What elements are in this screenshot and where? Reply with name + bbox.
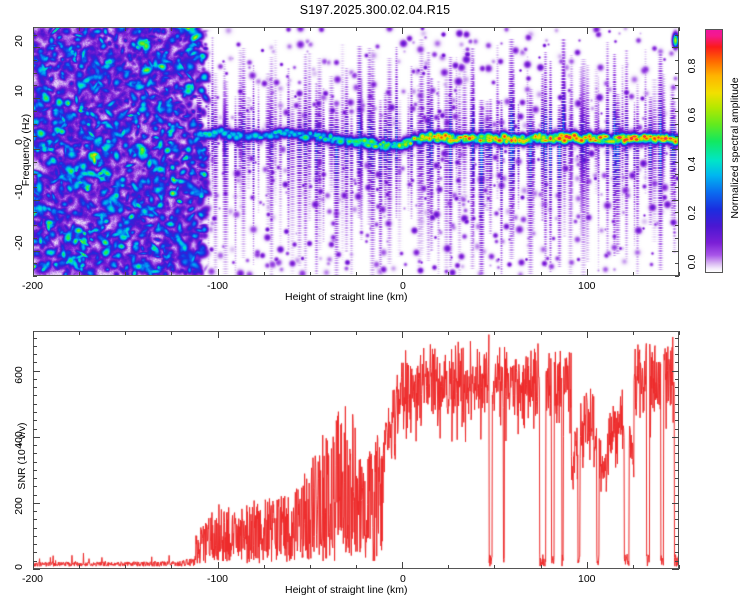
tick-mark (79, 331, 80, 335)
tick-mark (218, 27, 219, 34)
tick-mark (675, 387, 679, 388)
tick-mark (675, 429, 679, 430)
tick-mark (218, 562, 219, 569)
tick-mark (448, 565, 449, 569)
tick-mark (33, 60, 37, 61)
tick-mark (633, 565, 634, 569)
tick-mark (675, 60, 679, 61)
tick-mark (675, 225, 679, 226)
tick-mark (675, 85, 679, 86)
tick-mark (541, 27, 542, 31)
tick-mark (672, 371, 679, 372)
tick-mark (79, 565, 80, 569)
tick-mark (402, 269, 403, 276)
tick-mark (675, 346, 679, 347)
colorbar-tick-0.2: 0.2 (686, 200, 698, 226)
tick-mark (33, 404, 37, 405)
tick-mark (33, 187, 37, 188)
snr-xtick-m100: -100 (207, 573, 228, 585)
tick-mark (675, 511, 679, 512)
tick-mark (675, 552, 679, 553)
tick-mark (494, 272, 495, 276)
tick-mark (587, 562, 588, 569)
tick-mark (356, 331, 357, 335)
tick-mark (33, 212, 37, 213)
tick-mark (675, 462, 679, 463)
figure-root: S197.2025.300.02.04.R15 20 10 0 -10 -20 … (0, 0, 750, 600)
tick-mark (33, 552, 37, 553)
tick-mark (171, 27, 172, 31)
tick-mark (125, 27, 126, 31)
tick-mark (264, 27, 265, 31)
tick-mark (310, 27, 311, 31)
tick-mark (679, 565, 680, 569)
tick-mark (672, 503, 679, 504)
tick-mark (33, 379, 37, 380)
tick-mark (402, 331, 403, 338)
tick-mark (675, 35, 679, 36)
snr-xtick-m200: -200 (22, 573, 43, 585)
tick-mark (218, 331, 219, 338)
tick-mark (33, 395, 37, 396)
tick-mark (33, 73, 37, 74)
snr-y-axis-label: SNR (10 * v/v) (16, 396, 28, 516)
tick-mark (125, 331, 126, 335)
tick-mark (33, 544, 37, 545)
tick-mark (310, 272, 311, 276)
tick-mark (675, 561, 679, 562)
tick-mark (675, 162, 679, 163)
tick-mark (675, 263, 679, 264)
tick-mark (675, 453, 679, 454)
tick-mark (33, 35, 37, 36)
tick-mark (402, 562, 403, 569)
spectrogram-image (34, 28, 678, 275)
tick-mark (125, 565, 126, 569)
tick-mark (33, 511, 37, 512)
tick-mark (33, 486, 37, 487)
tick-mark (541, 272, 542, 276)
colorbar-tick-0.6: 0.6 (686, 102, 698, 128)
tick-mark (33, 528, 37, 529)
tick-mark (672, 47, 679, 48)
tick-mark (675, 536, 679, 537)
colorbar-tick-0.8: 0.8 (686, 53, 698, 79)
tick-mark (675, 238, 679, 239)
tick-mark (33, 503, 40, 504)
tick-mark (675, 470, 679, 471)
tick-mark (33, 495, 37, 496)
tick-mark (672, 200, 679, 201)
tick-mark (264, 272, 265, 276)
tick-mark (33, 331, 34, 338)
tick-mark (33, 276, 37, 277)
tick-mark (33, 47, 40, 48)
tick-mark (33, 445, 37, 446)
tick-mark (33, 238, 37, 239)
tick-mark (541, 331, 542, 335)
spec-xtick-100: 100 (578, 280, 596, 292)
tick-mark (672, 569, 679, 570)
tick-mark (33, 111, 37, 112)
snr-ytick-600: 600 (13, 358, 25, 392)
tick-mark (675, 420, 679, 421)
tick-mark (33, 200, 40, 201)
tick-mark (675, 519, 679, 520)
tick-mark (310, 565, 311, 569)
spec-ytick-20: 20 (13, 29, 25, 53)
tick-mark (33, 162, 37, 163)
tick-mark (310, 331, 311, 335)
tick-mark (675, 362, 679, 363)
tick-mark (494, 27, 495, 31)
tick-mark (675, 174, 679, 175)
snr-xtick-100: 100 (578, 573, 596, 585)
tick-mark (675, 495, 679, 496)
tick-mark (672, 149, 679, 150)
tick-mark (33, 338, 37, 339)
tick-mark (33, 346, 37, 347)
snr-line-plot (34, 332, 678, 568)
tick-mark (171, 565, 172, 569)
tick-mark (218, 269, 219, 276)
tick-mark (675, 354, 679, 355)
tick-mark (675, 478, 679, 479)
tick-mark (33, 453, 37, 454)
tick-mark (675, 379, 679, 380)
tick-mark (33, 149, 40, 150)
tick-mark (33, 174, 37, 175)
tick-mark (356, 27, 357, 31)
tick-mark (79, 27, 80, 31)
tick-mark (675, 528, 679, 529)
spec-ytick-m20: -20 (13, 229, 25, 257)
tick-mark (33, 136, 37, 137)
tick-mark (675, 338, 679, 339)
spectrogram-y-axis-label: Frequency (Hz) (20, 90, 32, 210)
tick-mark (33, 412, 37, 413)
spec-xtick-m200: -200 (22, 280, 43, 292)
tick-mark (33, 420, 37, 421)
snr-x-axis-label: Height of straight line (km) (285, 584, 408, 596)
tick-mark (33, 362, 37, 363)
tick-mark (675, 395, 679, 396)
tick-mark (675, 404, 679, 405)
spectrogram-x-axis-label: Height of straight line (km) (285, 291, 408, 303)
tick-mark (587, 331, 588, 338)
figure-title: S197.2025.300.02.04.R15 (0, 3, 750, 17)
tick-mark (33, 85, 37, 86)
tick-mark (356, 272, 357, 276)
tick-mark (33, 462, 37, 463)
tick-mark (33, 429, 37, 430)
tick-mark (33, 269, 34, 276)
tick-mark (356, 565, 357, 569)
spec-xtick-m100: -100 (207, 280, 228, 292)
tick-mark (675, 544, 679, 545)
snr-panel (33, 331, 679, 569)
tick-mark (171, 331, 172, 335)
tick-mark (33, 561, 37, 562)
tick-mark (679, 27, 680, 31)
tick-mark (33, 536, 37, 537)
tick-mark (675, 212, 679, 213)
colorbar-tick-0.4: 0.4 (686, 151, 698, 177)
tick-mark (675, 486, 679, 487)
tick-mark (448, 272, 449, 276)
tick-mark (633, 27, 634, 31)
tick-mark (672, 251, 679, 252)
tick-mark (33, 124, 37, 125)
tick-mark (633, 272, 634, 276)
tick-mark (679, 272, 680, 276)
tick-mark (125, 272, 126, 276)
tick-mark (33, 387, 37, 388)
tick-mark (675, 445, 679, 446)
tick-mark (33, 470, 37, 471)
tick-mark (448, 331, 449, 335)
tick-mark (33, 263, 37, 264)
tick-mark (633, 331, 634, 335)
tick-mark (675, 124, 679, 125)
tick-mark (402, 27, 403, 34)
tick-mark (264, 331, 265, 335)
colorbar-tick-0.0: 0.0 (686, 249, 698, 275)
colorbar-label: Normalized spectral amplitude (729, 63, 741, 233)
colorbar (705, 29, 723, 273)
tick-mark (33, 437, 40, 438)
tick-mark (33, 519, 37, 520)
tick-mark (675, 111, 679, 112)
tick-mark (33, 569, 40, 570)
tick-mark (675, 187, 679, 188)
tick-mark (79, 272, 80, 276)
tick-mark (587, 269, 588, 276)
tick-mark (541, 565, 542, 569)
tick-mark (675, 412, 679, 413)
tick-mark (494, 331, 495, 335)
tick-mark (587, 27, 588, 34)
tick-mark (675, 73, 679, 74)
tick-mark (672, 98, 679, 99)
tick-mark (33, 98, 40, 99)
colorbar-gradient (706, 30, 722, 272)
tick-mark (672, 437, 679, 438)
tick-mark (33, 225, 37, 226)
tick-mark (33, 478, 37, 479)
tick-mark (675, 276, 679, 277)
tick-mark (448, 27, 449, 31)
tick-mark (264, 565, 265, 569)
tick-mark (171, 272, 172, 276)
spectrogram-panel (33, 27, 679, 276)
tick-mark (33, 27, 34, 34)
tick-mark (675, 136, 679, 137)
tick-mark (33, 251, 40, 252)
tick-mark (494, 565, 495, 569)
tick-mark (33, 354, 37, 355)
tick-mark (33, 371, 40, 372)
tick-mark (679, 331, 680, 335)
tick-mark (33, 562, 34, 569)
